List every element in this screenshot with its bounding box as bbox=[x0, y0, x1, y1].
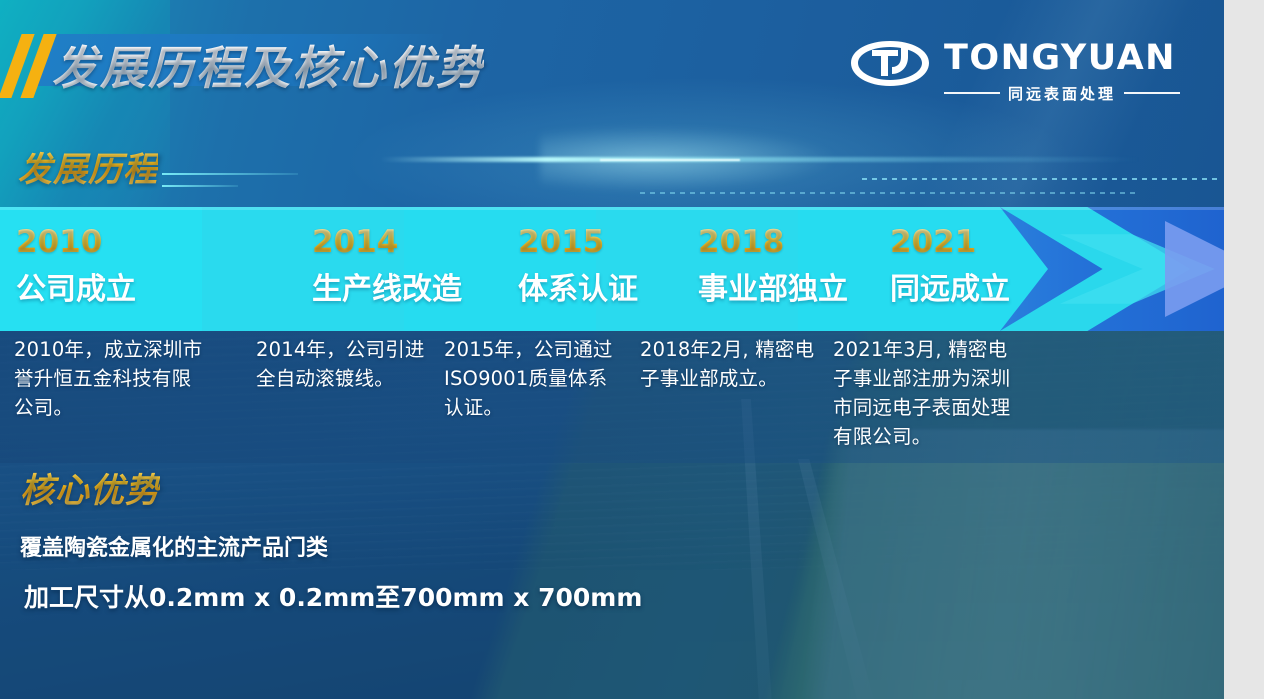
timeline-milestone: 2014 生产线改造 bbox=[312, 227, 462, 308]
timeline-year: 2021 bbox=[890, 227, 1010, 258]
timeline-label: 公司成立 bbox=[16, 264, 136, 308]
timeline-label: 事业部独立 bbox=[698, 264, 848, 308]
section-heading-history: 发展历程 bbox=[18, 142, 158, 191]
lens-flare-core bbox=[600, 159, 740, 161]
timeline-description: 2014年，公司引进全自动滚镀线。 bbox=[256, 336, 434, 394]
timeline-year: 2018 bbox=[698, 227, 848, 258]
logo-subtitle: 同远表面处理 bbox=[1008, 83, 1116, 104]
timeline: 2010 公司成立 2014 生产线改造 2015 体系认证 2018 事业部独… bbox=[0, 207, 1224, 331]
timeline-year: 2015 bbox=[518, 227, 638, 258]
timeline-year: 2014 bbox=[312, 227, 462, 258]
advantage-item-2: 加工尺寸从0.2mm x 0.2mm至700mm x 700mm bbox=[24, 578, 642, 614]
section-rule-history-2 bbox=[162, 185, 238, 187]
lens-flare-streak bbox=[380, 157, 1140, 162]
section-rule-history-1 bbox=[162, 173, 298, 175]
advantage-item-1: 覆盖陶瓷金属化的主流产品门类 bbox=[20, 530, 328, 562]
page-title: 发展历程及核心优势 bbox=[52, 32, 484, 98]
timeline-milestone: 2010 公司成立 bbox=[16, 227, 136, 308]
ty-oval-monogram-icon bbox=[848, 38, 932, 90]
timeline-milestone: 2015 体系认证 bbox=[518, 227, 638, 308]
dashed-accent-line-2 bbox=[640, 192, 1140, 194]
logo-wordmark: TONGYUAN bbox=[944, 38, 1176, 78]
logo-rule-left bbox=[944, 92, 1000, 94]
timeline-label: 同远成立 bbox=[890, 264, 1010, 308]
timeline-year: 2010 bbox=[16, 227, 136, 258]
timeline-description: 2018年2月, 精密电子事业部成立。 bbox=[640, 336, 824, 394]
timeline-description: 2021年3月, 精密电子事业部注册为深圳市同远电子表面处理有限公司。 bbox=[833, 336, 1025, 451]
timeline-description: 2015年，公司通过ISO9001质量体系认证。 bbox=[444, 336, 622, 423]
timeline-label: 体系认证 bbox=[518, 264, 638, 308]
timeline-milestone: 2021 同远成立 bbox=[890, 227, 1010, 308]
section-heading-advantages: 核心优势 bbox=[20, 463, 160, 512]
logo-subtitle-row: 同远表面处理 bbox=[944, 82, 1180, 104]
timeline-label: 生产线改造 bbox=[312, 264, 462, 308]
dashed-accent-line-1 bbox=[862, 178, 1222, 180]
timeline-top-edge bbox=[0, 207, 1224, 210]
timeline-milestone: 2018 事业部独立 bbox=[698, 227, 848, 308]
slide-root: 发展历程及核心优势 TONGYUAN 同远表面处理 发展历程 bbox=[0, 0, 1224, 699]
page-right-margin bbox=[1224, 0, 1264, 699]
company-logo: TONGYUAN 同远表面处理 bbox=[848, 34, 1178, 108]
timeline-description: 2010年，成立深圳市誉升恒五金科技有限公司。 bbox=[14, 336, 210, 423]
logo-rule-right bbox=[1124, 92, 1180, 94]
